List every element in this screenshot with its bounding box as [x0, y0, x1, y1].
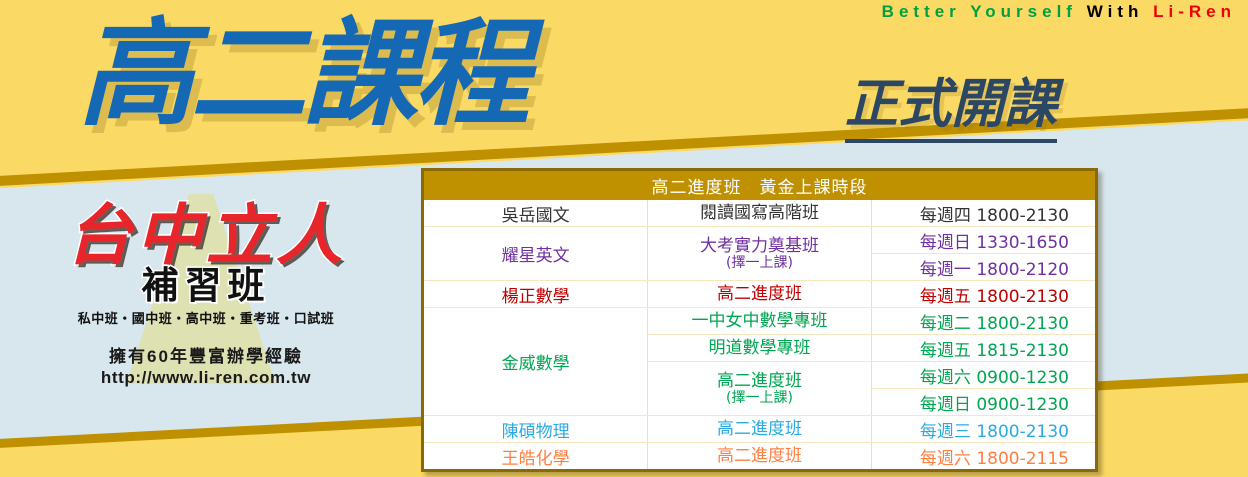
logo-website-url[interactable]: http://www.li-ren.com.tw	[18, 368, 394, 388]
tagline-part1: Better Yourself	[882, 2, 1077, 21]
logo: 台中立人 補習班 私中班・國中班・高中班・重考班・口試班 擁有60年豐富辦學經驗…	[18, 196, 394, 426]
teacher-cell: 吳岳國文	[424, 200, 648, 227]
teacher-cell: 耀星英文	[424, 227, 648, 281]
course-cell: 高二進度班	[648, 443, 872, 470]
table-row: 耀星英文大考實力奠基班(擇一上課)每週日 1330-1650	[424, 227, 1095, 254]
teacher-cell: 陳碩物理	[424, 416, 648, 443]
tagline: Better Yourself With Li-Ren	[882, 2, 1236, 22]
table-row: 陳碩物理高二進度班每週三 1800-2130	[424, 416, 1095, 443]
course-name: 高二進度班	[648, 284, 871, 304]
schedule-table-head: 高二進度班 黃金上課時段	[424, 171, 1095, 200]
course-banner: Better Yourself With Li-Ren 高二課程 正式開課 台中…	[0, 0, 1248, 477]
time-cell: 每週三 1800-2130	[871, 416, 1095, 443]
time-cell: 每週日 0900-1230	[871, 389, 1095, 416]
table-row: 吳岳國文閱讀國寫高階班每週四 1800-2130	[424, 200, 1095, 227]
teacher-cell: 金威數學	[424, 308, 648, 416]
page-subtitle: 正式開課	[845, 62, 1057, 143]
table-row: 王皓化學高二進度班每週六 1800-2115	[424, 443, 1095, 470]
schedule-table-container: 高二進度班 黃金上課時段 吳岳國文閱讀國寫高階班每週四 1800-2130耀星英…	[421, 168, 1098, 472]
tagline-part3: Li-Ren	[1153, 2, 1236, 21]
time-cell: 每週五 1815-2130	[871, 335, 1095, 362]
course-name: 大考實力奠基班	[648, 236, 871, 256]
course-name: 高二進度班	[648, 371, 871, 391]
course-cell: 高二進度班	[648, 416, 872, 443]
schedule-table: 高二進度班 黃金上課時段 吳岳國文閱讀國寫高階班每週四 1800-2130耀星英…	[424, 171, 1095, 469]
course-name: 高二進度班	[648, 419, 871, 439]
time-cell: 每週一 1800-2120	[871, 254, 1095, 281]
course-name: 閱讀國寫高階班	[648, 203, 871, 223]
teacher-cell: 楊正數學	[424, 281, 648, 308]
course-name: 一中女中數學專班	[648, 311, 871, 331]
page-title: 高二課程	[78, 6, 526, 143]
time-cell: 每週六 1800-2115	[871, 443, 1095, 470]
course-name: 明道數學專班	[648, 338, 871, 358]
course-note: (擇一上課)	[648, 391, 871, 406]
course-name: 高二進度班	[648, 446, 871, 466]
time-cell: 每週五 1800-2130	[871, 281, 1095, 308]
logo-class-list: 私中班・國中班・高中班・重考班・口試班	[18, 308, 394, 327]
time-cell: 每週日 1330-1650	[871, 227, 1095, 254]
time-cell: 每週四 1800-2130	[871, 200, 1095, 227]
logo-sub-text: 補習班	[18, 267, 394, 304]
schedule-table-body: 吳岳國文閱讀國寫高階班每週四 1800-2130耀星英文大考實力奠基班(擇一上課…	[424, 200, 1095, 469]
table-row: 金威數學一中女中數學專班每週二 1800-2130	[424, 308, 1095, 335]
course-note: (擇一上課)	[648, 256, 871, 271]
schedule-header-cell: 高二進度班 黃金上課時段	[424, 171, 1095, 200]
course-cell: 閱讀國寫高階班	[648, 200, 872, 227]
time-cell: 每週六 0900-1230	[871, 362, 1095, 389]
time-cell: 每週二 1800-2130	[871, 308, 1095, 335]
course-cell: 大考實力奠基班(擇一上課)	[648, 227, 872, 281]
teacher-cell: 王皓化學	[424, 443, 648, 470]
tagline-part2: With	[1087, 2, 1144, 21]
course-cell: 明道數學專班	[648, 335, 872, 362]
course-cell: 高二進度班(擇一上課)	[648, 362, 872, 416]
course-cell: 高二進度班	[648, 281, 872, 308]
course-cell: 一中女中數學專班	[648, 308, 872, 335]
table-row: 楊正數學高二進度班每週五 1800-2130	[424, 281, 1095, 308]
logo-experience: 擁有60年豐富辦學經驗	[18, 342, 394, 367]
table-header-row: 高二進度班 黃金上課時段	[424, 171, 1095, 200]
logo-main-text: 台中立人	[18, 200, 394, 271]
